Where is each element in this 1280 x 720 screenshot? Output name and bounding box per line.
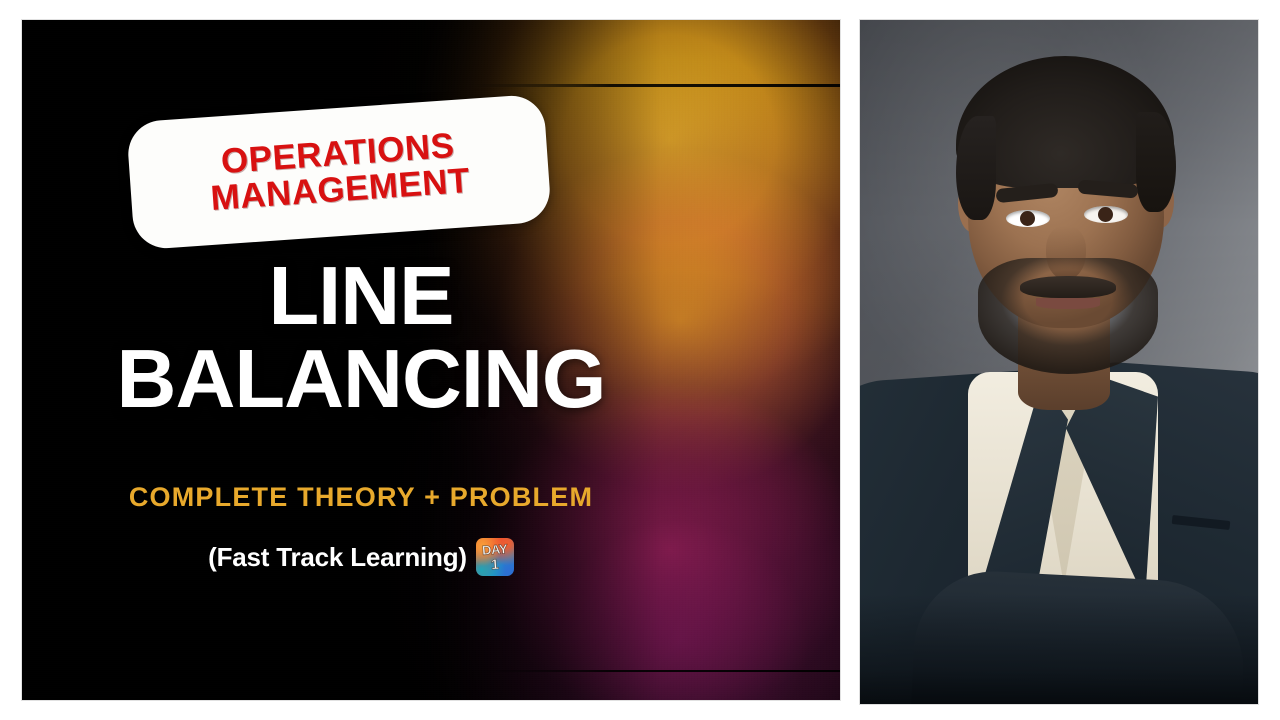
- day-1-badge-icon: DAY 1: [476, 538, 514, 576]
- pupil-left: [1020, 211, 1035, 226]
- bottom-divider-line: [22, 670, 840, 672]
- top-divider-line: [22, 84, 840, 87]
- video-thumbnail-panel[interactable]: OPERATIONS MANAGEMENT LINE BALANCING COM…: [22, 20, 840, 700]
- thumbnail-tagline: (Fast Track Learning): [208, 542, 467, 573]
- thumbnail-tagline-row: (Fast Track Learning) DAY 1: [22, 538, 840, 576]
- mouth: [1036, 298, 1100, 309]
- course-subject-badge: OPERATIONS MANAGEMENT: [126, 94, 552, 251]
- moustache: [1020, 276, 1116, 298]
- thumbnail-subtitle: COMPLETE THEORY + PROBLEM: [22, 482, 840, 513]
- screenshot-stage: OPERATIONS MANAGEMENT LINE BALANCING COM…: [0, 0, 1280, 720]
- thumbnail-title: LINE BALANCING: [22, 256, 840, 422]
- hair-side-left: [956, 116, 996, 220]
- nose: [1046, 226, 1086, 280]
- title-line-2: BALANCING: [22, 336, 700, 422]
- photo-bottom-shadow: [860, 594, 1258, 704]
- day-badge-number: 1: [490, 557, 499, 572]
- title-line-1: LINE: [22, 256, 700, 336]
- presenter-photo-panel[interactable]: [860, 20, 1258, 704]
- pupil-right: [1098, 207, 1113, 222]
- day-badge-label: DAY: [482, 542, 508, 557]
